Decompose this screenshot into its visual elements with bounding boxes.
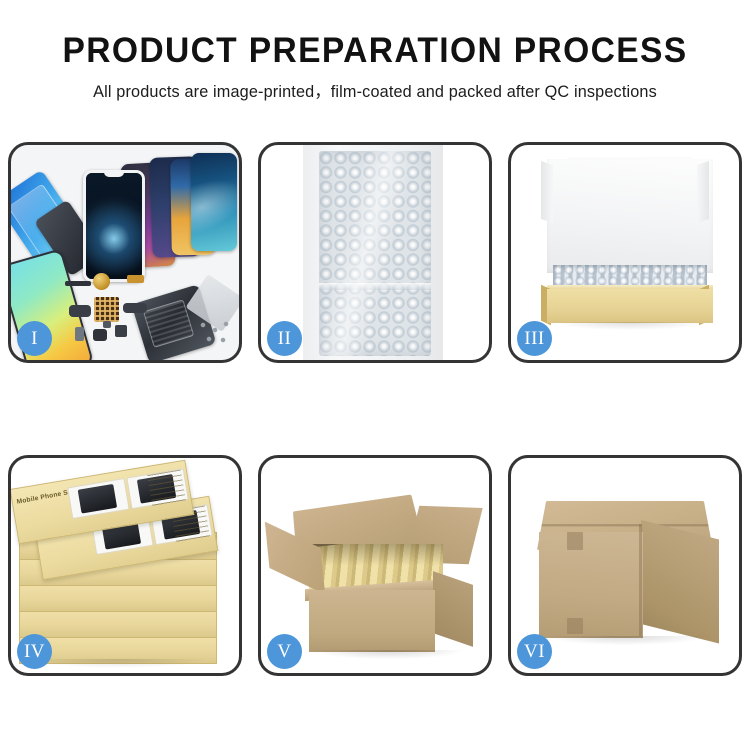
- sealed-carton-shadow: [545, 636, 705, 645]
- carton-shadow: [313, 650, 463, 659]
- sealed-carton-side-face: [641, 520, 719, 643]
- page-subtitle: All products are image-printed，film-coat…: [6, 71, 745, 102]
- battery-connector-part-icon: [65, 281, 91, 286]
- bubble-wrap-icon: [319, 151, 431, 356]
- phone-teal-icon: [191, 153, 237, 251]
- step-badge-5: V: [267, 634, 302, 669]
- process-step-panel-3[interactable]: III: [508, 142, 742, 363]
- carton-tape-icon: [567, 532, 583, 550]
- process-step-panel-2[interactable]: II: [258, 142, 492, 363]
- carton-side-face: [433, 571, 473, 647]
- page-title: PRODUCT PREPARATION PROCESS: [15, 0, 735, 71]
- speaker-part-icon: [93, 329, 107, 341]
- flex-cable-part-icon: [69, 305, 91, 317]
- process-step-panel-4[interactable]: Mobile Phone Spare Parts Mobile Phone Sp…: [8, 455, 242, 676]
- carton-front-face: [309, 590, 435, 652]
- step-badge-1: I: [17, 321, 52, 356]
- inner-box-front-icon: [547, 289, 713, 323]
- gold-contact-part-icon: [127, 275, 144, 283]
- process-step-panel-5[interactable]: V: [258, 455, 492, 676]
- process-step-grid: I II III: [8, 142, 742, 742]
- bubble-wrap-seam: [319, 283, 431, 290]
- inner-box-lid-tab-right: [697, 161, 709, 223]
- vibration-motor-part-icon: [93, 273, 110, 290]
- screws-icon: [199, 321, 233, 345]
- retail-box-slab: [19, 610, 217, 638]
- retail-box-product-photo: [67, 478, 129, 519]
- logic-board-part-icon: [94, 297, 119, 322]
- retail-box-spec-lines: [147, 470, 186, 507]
- sealed-carton-front-face: [539, 532, 643, 638]
- retail-box-slab: [19, 584, 217, 612]
- flex-cable-part-icon: [123, 303, 147, 313]
- process-step-panel-1[interactable]: I: [8, 142, 242, 363]
- camera-module-part-icon: [115, 325, 127, 337]
- inner-box-shadow: [555, 322, 705, 330]
- retail-box-stack-shadow: [25, 659, 211, 668]
- process-step-panel-6[interactable]: VI: [508, 455, 742, 676]
- step-badge-4: IV: [17, 634, 52, 669]
- inner-box-lid-tab-left: [541, 161, 553, 223]
- page-header: PRODUCT PREPARATION PROCESS All products…: [0, 0, 750, 130]
- inner-box-lid-icon: [547, 159, 713, 273]
- small-part-icon: [103, 321, 111, 328]
- step-badge-2: II: [267, 321, 302, 356]
- sealed-carton-edge: [639, 524, 642, 636]
- step-badge-3: III: [517, 321, 552, 356]
- step-badge-6: VI: [517, 634, 552, 669]
- carton-tape-icon: [567, 618, 583, 634]
- sim-tray-part-icon: [75, 327, 84, 341]
- phone-white-frame-icon: [83, 170, 145, 282]
